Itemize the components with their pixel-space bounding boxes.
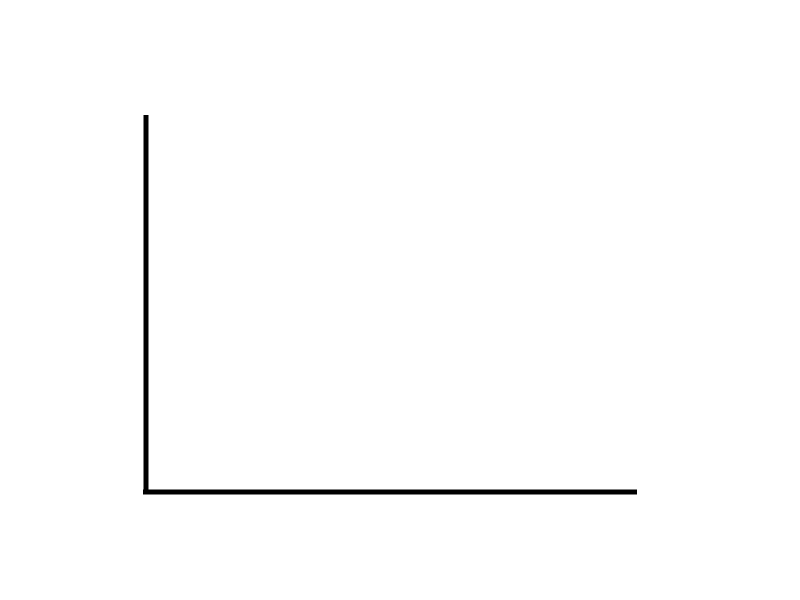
plot-area — [0, 0, 800, 600]
elisa-chart-figure — [0, 0, 800, 600]
